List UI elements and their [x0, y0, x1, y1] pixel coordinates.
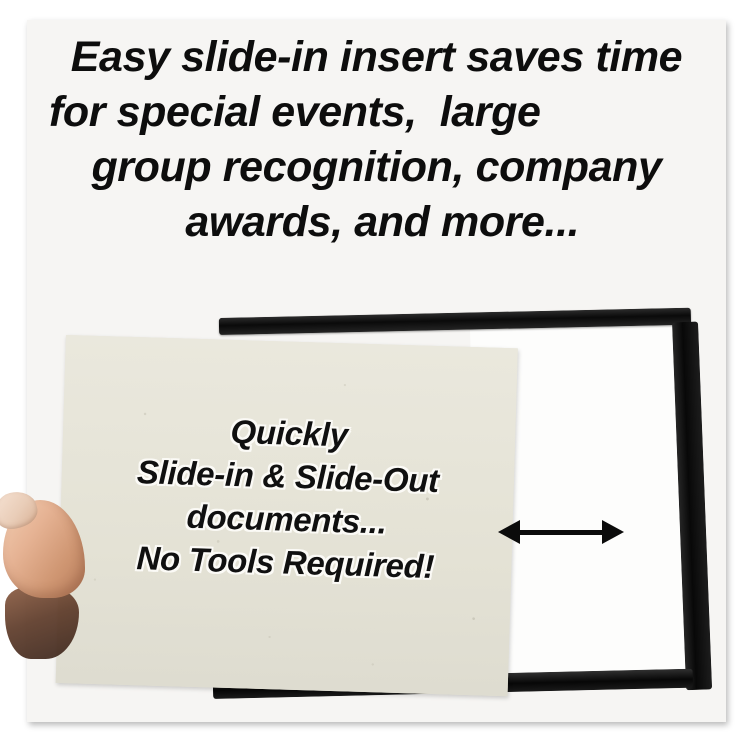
- headline-line-4: awards, and more...: [27, 195, 726, 250]
- product-photo-stage: Easy slide-in insert saves time for spec…: [0, 0, 750, 750]
- headline-text: Easy slide-in insert saves time for spec…: [27, 30, 726, 250]
- arrow-head-right-icon: [602, 520, 624, 544]
- arrow-shaft: [516, 530, 606, 535]
- double-headed-arrow-icon: [498, 519, 624, 547]
- insert-card: Quickly Slide-in & Slide-Out documents..…: [56, 335, 518, 696]
- insert-card-text: Quickly Slide-in & Slide-Out documents..…: [59, 405, 516, 590]
- headline-line-2: for special events, large: [27, 85, 726, 140]
- hand: [0, 492, 87, 664]
- headline-line-1: Easy slide-in insert saves time: [27, 30, 726, 85]
- headline-line-3: group recognition, company: [27, 140, 726, 195]
